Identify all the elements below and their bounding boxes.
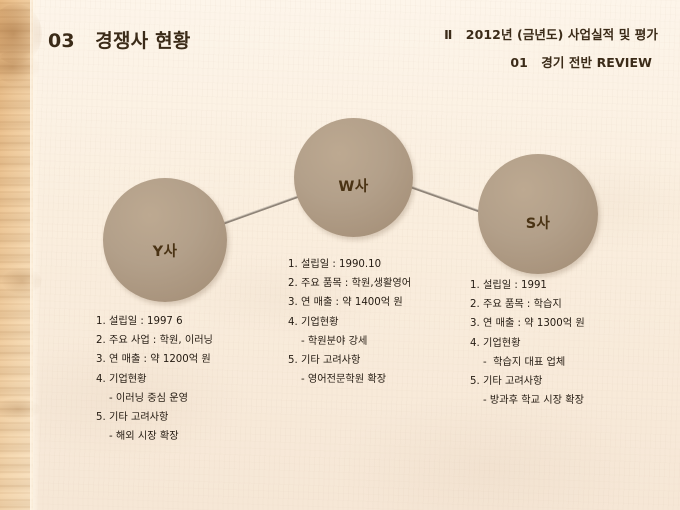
company-details-y: 1. 설립일 : 1997 62. 주요 사업 : 학원, 이러닝3. 연 매출… — [96, 312, 213, 446]
company-node-w[interactable]: W사 — [294, 118, 413, 237]
company-node-label-w: W사 — [338, 175, 368, 196]
detail-subline: - 학습지 대표 업체 — [470, 353, 585, 372]
detail-subline: - 이러닝 중심 운영 — [96, 389, 213, 408]
detail-line: 2. 주요 품목 : 학원,생활영어 — [288, 274, 411, 293]
page-title: 03 경쟁사 현황 — [48, 26, 191, 53]
header-section-title: Ⅱ 2012년 (금년도) 사업실적 및 평가 — [444, 24, 658, 43]
detail-line: 1. 설립일 : 1990.10 — [288, 255, 411, 274]
company-node-y[interactable]: Y사 — [103, 178, 227, 302]
slide-header: Ⅱ 2012년 (금년도) 사업실적 및 평가 01 경기 전반 REVIEW — [444, 24, 658, 71]
detail-subline: - 해외 시장 확장 — [96, 427, 213, 446]
detail-line: 5. 기타 고려사항 — [96, 408, 213, 427]
company-node-s[interactable]: S사 — [478, 154, 598, 274]
connector-y-to-w-highlight — [222, 195, 300, 223]
company-details-s: 1. 설립일 : 19912. 주요 품목 : 학습지3. 연 매출 : 약 1… — [470, 276, 585, 410]
detail-subline: - 학원분야 강세 — [288, 332, 411, 351]
detail-line: 2. 주요 사업 : 학원, 이러닝 — [96, 331, 213, 350]
detail-line: 1. 설립일 : 1997 6 — [96, 312, 213, 331]
detail-subline: - 방과후 학교 시장 확장 — [470, 391, 585, 410]
company-node-label-s: S사 — [526, 212, 551, 233]
detail-line: 5. 기타 고려사항 — [288, 351, 411, 370]
connector-y-to-w — [222, 196, 300, 224]
detail-line: 4. 기업현황 — [96, 370, 213, 389]
connector-w-to-s — [408, 186, 487, 214]
company-node-label-y: Y사 — [153, 240, 178, 261]
connector-w-to-s-highlight — [408, 185, 487, 213]
detail-line: 3. 연 매출 : 약 1200억 원 — [96, 350, 213, 369]
wood-edge-decoration — [0, 0, 33, 510]
detail-line: 4. 기업현황 — [288, 313, 411, 332]
wood-edge-highlight — [30, 0, 40, 510]
header-subsection-title: 01 경기 전반 REVIEW — [444, 52, 658, 71]
detail-subline: - 영어전문학원 확장 — [288, 370, 411, 389]
detail-line: 3. 연 매출 : 약 1400억 원 — [288, 293, 411, 312]
detail-line: 3. 연 매출 : 약 1300억 원 — [470, 314, 585, 333]
detail-line: 4. 기업현황 — [470, 334, 585, 353]
presentation-slide: 03 경쟁사 현황 Ⅱ 2012년 (금년도) 사업실적 및 평가 01 경기 … — [0, 0, 680, 510]
detail-line: 1. 설립일 : 1991 — [470, 276, 585, 295]
company-details-w: 1. 설립일 : 1990.102. 주요 품목 : 학원,생활영어3. 연 매… — [288, 255, 411, 389]
detail-line: 5. 기타 고려사항 — [470, 372, 585, 391]
detail-line: 2. 주요 품목 : 학습지 — [470, 295, 585, 314]
